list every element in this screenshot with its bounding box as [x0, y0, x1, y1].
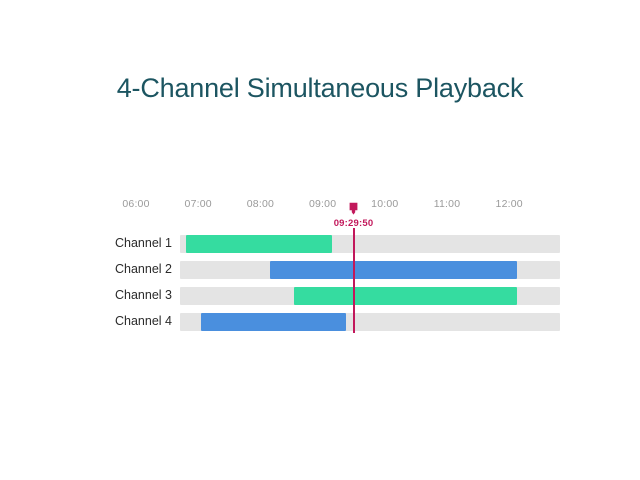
channel-label: Channel 1: [52, 234, 172, 253]
recording-segment[interactable]: [270, 261, 517, 279]
channel-track[interactable]: [180, 235, 560, 253]
axis-tick-label: 11:00: [434, 198, 461, 210]
channel-track[interactable]: [180, 313, 560, 331]
timeline-panel: 06:0007:0008:0009:0010:0011:0012:00 Chan…: [0, 198, 640, 343]
recording-segment[interactable]: [186, 235, 332, 253]
channel-label: Channel 3: [52, 286, 172, 305]
channel-track[interactable]: [180, 261, 560, 279]
recording-segment[interactable]: [294, 287, 517, 305]
channel-track[interactable]: [180, 287, 560, 305]
channel-label: Channel 2: [52, 260, 172, 279]
page-title: 4-Channel Simultaneous Playback: [0, 73, 640, 104]
timeline-row: Channel 1: [0, 235, 640, 253]
timeline-row: Channel 2: [0, 261, 640, 279]
axis-tick-label: 08:00: [247, 198, 274, 210]
axis-tick-label: 09:00: [309, 198, 336, 210]
recording-segment[interactable]: [201, 313, 346, 331]
axis-tick-label: 12:00: [496, 198, 523, 210]
timeline-row: Channel 4: [0, 313, 640, 331]
playback-timeline-app: 4-Channel Simultaneous Playback 06:0007:…: [0, 0, 640, 480]
axis-tick-label: 07:00: [185, 198, 212, 210]
timeline-row: Channel 3: [0, 287, 640, 305]
axis-tick-label: 10:00: [371, 198, 398, 210]
playhead-timestamp: 09:29:50: [334, 218, 374, 229]
playhead-marker-icon[interactable]: [349, 202, 358, 215]
timeline-axis: 06:0007:0008:0009:0010:0011:0012:00: [0, 198, 640, 218]
channel-label: Channel 4: [52, 312, 172, 331]
playhead-line: [353, 228, 355, 333]
axis-tick-label: 06:00: [122, 198, 149, 210]
